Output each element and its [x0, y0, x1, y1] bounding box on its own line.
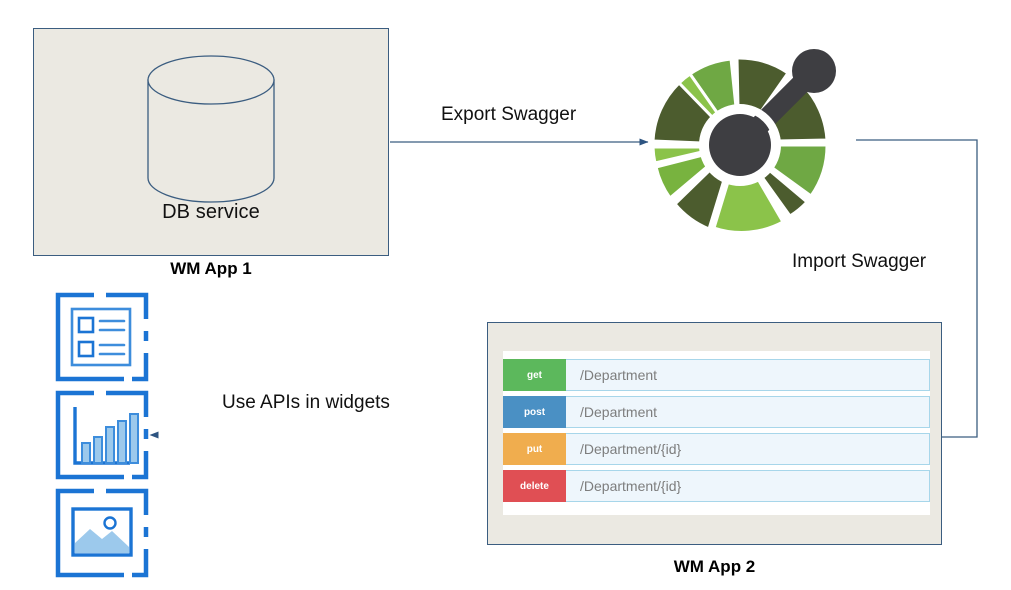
table-row[interactable]: delete /Department/{id} [503, 470, 930, 502]
method-badge-post: post [503, 396, 566, 428]
bar-chart-widget-icon [54, 389, 150, 481]
form-list-widget-icon [54, 291, 150, 383]
api-path: /Department [566, 397, 929, 427]
table-row[interactable]: post /Department [503, 396, 930, 428]
method-badge-put: put [503, 433, 566, 465]
label-import-swagger: Import Swagger [792, 251, 926, 273]
api-path: /Department/{id} [566, 434, 929, 464]
method-badge-get: get [503, 359, 566, 391]
wm-app-2-caption: WM App 2 [487, 557, 942, 577]
image-widget-icon [54, 487, 150, 579]
swagger-logo-icon [653, 49, 836, 232]
api-table: get /Department post /Department put /De… [503, 351, 930, 515]
api-path: /Department [566, 360, 929, 390]
api-path: /Department/{id} [566, 471, 929, 501]
label-export-swagger: Export Swagger [441, 104, 576, 126]
method-badge-delete: delete [503, 470, 566, 502]
label-use-apis-in-widgets: Use APIs in widgets [222, 392, 390, 414]
table-row[interactable]: get /Department [503, 359, 930, 391]
diagram-canvas: DB service WM App 1 [0, 0, 1011, 590]
table-row[interactable]: put /Department/{id} [503, 433, 930, 465]
